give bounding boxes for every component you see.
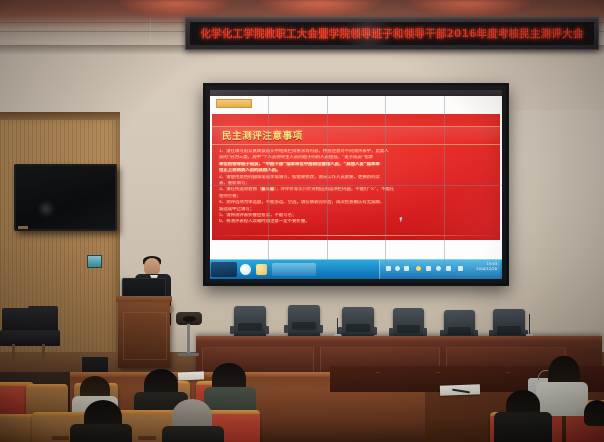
video-wall[interactable]: 民主测评注意事项 1、请在填写前认真阅读表头中相关栏目要求等内容，特别注意对不同… — [203, 83, 509, 286]
attendee-body — [162, 426, 224, 442]
attendee-body — [70, 424, 132, 442]
led-banner-display: 化学化工学院教职工大会暨学院领导班子和领导干部2016年度考核民主测评大会 — [190, 22, 594, 45]
slide-title: 民主测评注意事项 — [222, 128, 303, 142]
taskbar-window-button[interactable] — [272, 263, 316, 276]
stage-chair — [234, 306, 266, 338]
system-tray[interactable]: 15:43 2016/12/28 — [379, 260, 500, 279]
desk-paper — [178, 371, 204, 380]
taskbar-icon-browser[interactable] — [240, 264, 251, 275]
taskbar-icon-folder[interactable] — [256, 264, 267, 275]
wall-speaker-box — [87, 255, 102, 268]
podium-top — [116, 296, 172, 302]
led-banner: 化学化工学院教职工大会暨学院领导班子和领导干部2016年度考核民主测评大会 — [185, 17, 599, 50]
head-table-top — [196, 336, 602, 341]
stage-chair — [342, 307, 374, 339]
attendee-body — [494, 412, 552, 442]
tv-indicator-light — [18, 226, 28, 229]
presentation-canvas-bottom — [210, 240, 502, 260]
attendee-body — [536, 382, 588, 416]
podium-front-panel — [123, 312, 167, 360]
tv-reflection — [38, 201, 54, 217]
bar-stool-ring — [183, 316, 196, 322]
podium — [118, 300, 170, 368]
auditorium-photo: 化学化工学院教职工大会暨学院领导班子和领导干部2016年度考核民主测评大会 民主… — [0, 0, 604, 442]
wall-mounted-tv — [14, 164, 117, 231]
slide-corner-tag — [216, 99, 252, 108]
taskbar-clock[interactable]: 15:43 2016/12/28 — [476, 262, 497, 272]
windows-taskbar[interactable]: 15:43 2016/12/28 — [210, 259, 502, 279]
slide-line: 6、将测评表投入票箱时请注意一定不要折叠。 — [219, 219, 493, 225]
audience-seat — [0, 414, 36, 442]
attendee-head — [584, 400, 604, 426]
slide-bottom-rule — [212, 235, 500, 236]
slide-text-block: 1、请在填写前认真阅读表头中相关栏目要求等内容，特别注意对不同测评表中，此类人 … — [219, 149, 493, 226]
bar-stool-base — [178, 353, 199, 356]
led-banner-text: 化学化工学院教职工大会暨学院领导班子和领导干部2016年度考核民主测评大会 — [200, 26, 583, 41]
video-wall-display: 民主测评注意事项 1、请在填写前认真阅读表头中相关栏目要求等内容，特别注意对不同… — [210, 90, 502, 279]
start-button[interactable] — [211, 262, 237, 277]
table-microphone — [529, 314, 530, 334]
slide-body: 民主测评注意事项 1、请在填写前认真阅读表头中相关栏目要求等内容，特别注意对不同… — [212, 114, 500, 240]
clock-date: 2016/12/28 — [476, 267, 497, 272]
table-microphone — [337, 318, 338, 334]
bar-stool-pole — [187, 324, 190, 354]
stage-chair — [288, 305, 320, 337]
